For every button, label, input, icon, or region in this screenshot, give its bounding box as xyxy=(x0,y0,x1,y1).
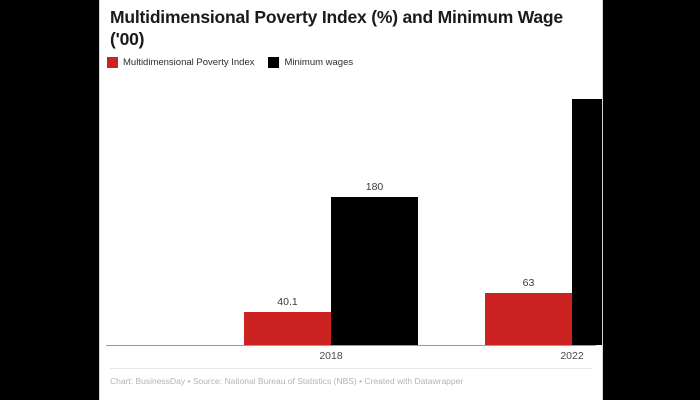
bar-2022-minimum-wages[interactable]: 300 xyxy=(572,99,603,345)
legend-item-minimum-wages[interactable]: Minimum wages xyxy=(268,57,353,68)
bar-value-2018-minimum-wages: 180 xyxy=(331,181,418,193)
legend-swatch-mpi xyxy=(107,57,118,68)
legend-item-mpi[interactable]: Multidimensional Poverty Index xyxy=(107,57,254,68)
video-frame: Multidimensional Poverty Index (%) and M… xyxy=(0,0,700,400)
bar-wrap-2018-mpi: 40.1 xyxy=(244,80,331,345)
bar-wrap-2022-minimum-wages: 300 xyxy=(572,80,603,345)
bar-group-2022: 63 300 2022 xyxy=(485,80,603,345)
legend-label-minimum-wages: Minimum wages xyxy=(284,57,353,68)
bar-group-bars: 40.1 180 xyxy=(244,80,418,345)
chart-legend: Multidimensional Poverty Index Minimum w… xyxy=(107,57,353,68)
footer-divider xyxy=(110,368,592,369)
bar-2018-minimum-wages[interactable]: 180 xyxy=(331,197,418,345)
legend-label-mpi: Multidimensional Poverty Index xyxy=(123,57,254,68)
chart-panel: Multidimensional Poverty Index (%) and M… xyxy=(99,0,603,400)
page-title: Multidimensional Poverty Index (%) and M… xyxy=(110,6,580,51)
bar-value-2022-minimum-wages: 300 xyxy=(572,83,603,95)
bar-group-2018: 40.1 180 2018 xyxy=(244,80,418,345)
plot-area: 40.1 180 2018 63 xyxy=(100,80,602,346)
letterbox-left xyxy=(0,0,99,400)
bar-wrap-2022-mpi: 63 xyxy=(485,80,572,345)
bar-value-2022-mpi: 63 xyxy=(485,277,572,289)
bar-2022-mpi[interactable]: 63 xyxy=(485,293,572,345)
bar-2018-mpi[interactable]: 40.1 xyxy=(244,312,331,345)
bar-group-bars: 63 300 xyxy=(485,80,603,345)
chart-credit: Chart: BusinessDay • Source: National Bu… xyxy=(110,376,596,386)
legend-swatch-minimum-wages xyxy=(268,57,279,68)
chart-header: Multidimensional Poverty Index (%) and M… xyxy=(110,6,580,51)
x-tick-label-2022: 2022 xyxy=(485,350,603,362)
bar-value-2018-mpi: 40.1 xyxy=(244,296,331,308)
letterbox-right xyxy=(603,0,700,400)
bar-wrap-2018-minimum-wages: 180 xyxy=(331,80,418,345)
x-tick-label-2018: 2018 xyxy=(244,350,418,362)
x-axis-baseline xyxy=(106,345,596,346)
